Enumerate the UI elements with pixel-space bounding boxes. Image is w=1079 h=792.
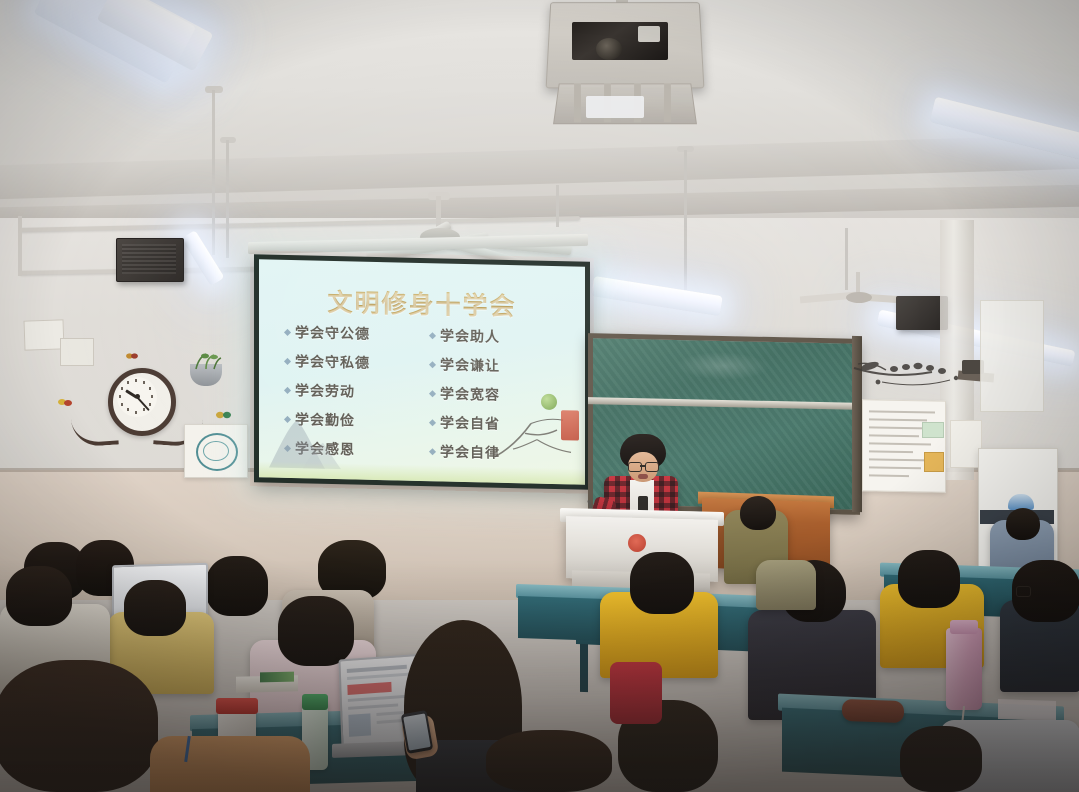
slide-item-label: 学会劳动 [295,380,355,401]
student-hair-foreground-left [0,660,158,792]
wall-frame-2 [60,338,94,366]
podium-emblem [628,534,646,552]
slide-item-label: 学会助人 [440,325,500,346]
paper-sheet [998,699,1056,721]
slide-bullet-item: 学会守公德 [285,322,422,345]
conduit-riser [18,216,22,276]
clock-tick [135,411,137,414]
student-hair [278,596,354,666]
clock-tick [149,387,151,390]
clock-tick [121,403,123,406]
student-hair [206,556,268,616]
light-drop-rod-3 [684,150,687,290]
light-drop-rod [212,90,215,255]
classroom-scene: 文明修身十学会 学会守公德 学会守私德 学会劳动 [0,0,1079,792]
student-hair-foreground-2 [486,730,612,792]
clock-tick [127,381,129,384]
bullet-icon [284,357,291,364]
student-hair [898,550,960,608]
butterfly-sticker-icon-2 [216,410,231,421]
bullet-icon [429,390,436,397]
bullet-icon [429,361,436,368]
bird-branch-decal-icon [852,352,968,394]
student-hair [630,552,694,614]
clock-tick [135,379,137,382]
projection-screen: 文明修身十学会 学会守公德 学会守私德 学会劳动 [254,254,590,490]
light-drop-rod-4 [556,185,559,227]
fan-drop-rod-2 [856,272,860,294]
clock-tick [119,395,121,398]
bullet-icon [429,419,436,426]
slide-bullet-item: 学会谦让 [430,354,567,377]
notice-chip-2 [924,452,944,472]
clock-tick [121,387,123,390]
glasses-bridge [640,465,645,467]
wall-poster-right [980,300,1044,412]
clock-tick [143,408,145,411]
emblem-inner-ring [203,441,229,461]
student-head [740,496,776,530]
student-head [1006,508,1040,540]
clock-tick [143,381,145,384]
bullet-icon [429,332,436,339]
projector-lens-icon [596,38,622,60]
slide-bullet-item: 学会助人 [430,325,567,348]
student-hair [6,566,72,626]
clock-center-pin [135,394,140,399]
speaker-grill [122,244,176,274]
slide-bullet-item: 学会劳动 [285,380,422,403]
butterfly-sticker-icon [58,398,72,408]
red-seal-decoration [561,410,579,440]
notice-board [862,399,946,492]
projector-cage-bar [574,83,581,122]
clock-tick [127,408,129,411]
ceiling-fan-2 [846,292,872,303]
light-drop-rod-5 [845,228,848,290]
plant-leaves-icon [192,352,222,370]
student-hair [124,580,186,636]
slide-title: 文明修身十学会 [259,281,585,324]
student-bag-red [610,662,662,724]
green-circle-decoration [541,394,557,410]
notice-chip [922,422,944,438]
projector-cage-bar [664,83,671,122]
bottle-cap-green [302,694,328,710]
student-torso-khaki [756,560,816,610]
glasses-icon [1016,586,1031,597]
bottle-cap-red [216,698,258,714]
projector-glint [638,26,660,42]
wall-frame [23,319,64,350]
chalkboard-dust [676,351,770,381]
slide-item-label: 学会宽容 [440,383,500,404]
bullet-icon [284,328,291,335]
snack-package [260,672,294,683]
slide-item-label: 学会守私德 [295,351,370,373]
desk-leg [580,644,588,692]
thermos [946,628,982,710]
slide-item-label: 学会谦让 [440,354,500,375]
light-drop-rod-2 [226,140,229,258]
bullet-icon [284,386,291,393]
slide-canvas: 文明修身十学会 学会守公德 学会守私德 学会劳动 [259,259,585,484]
bullet-icon [429,448,436,455]
presenter-mouth [638,474,648,479]
clock-tick [151,395,153,398]
student-torso-orange [150,736,310,792]
slide-item-label: 学会守公德 [295,322,370,344]
slide-bullet-item: 学会守私德 [285,351,422,374]
projector-underside [586,96,644,118]
butterfly-sticker-icon-3 [126,352,138,361]
clock-tick [149,403,151,406]
glasses-icon [628,462,642,472]
student-hair [900,726,982,792]
pencil-case [842,699,904,723]
thermos-cap [950,620,978,634]
glasses-icon-right [645,462,659,472]
